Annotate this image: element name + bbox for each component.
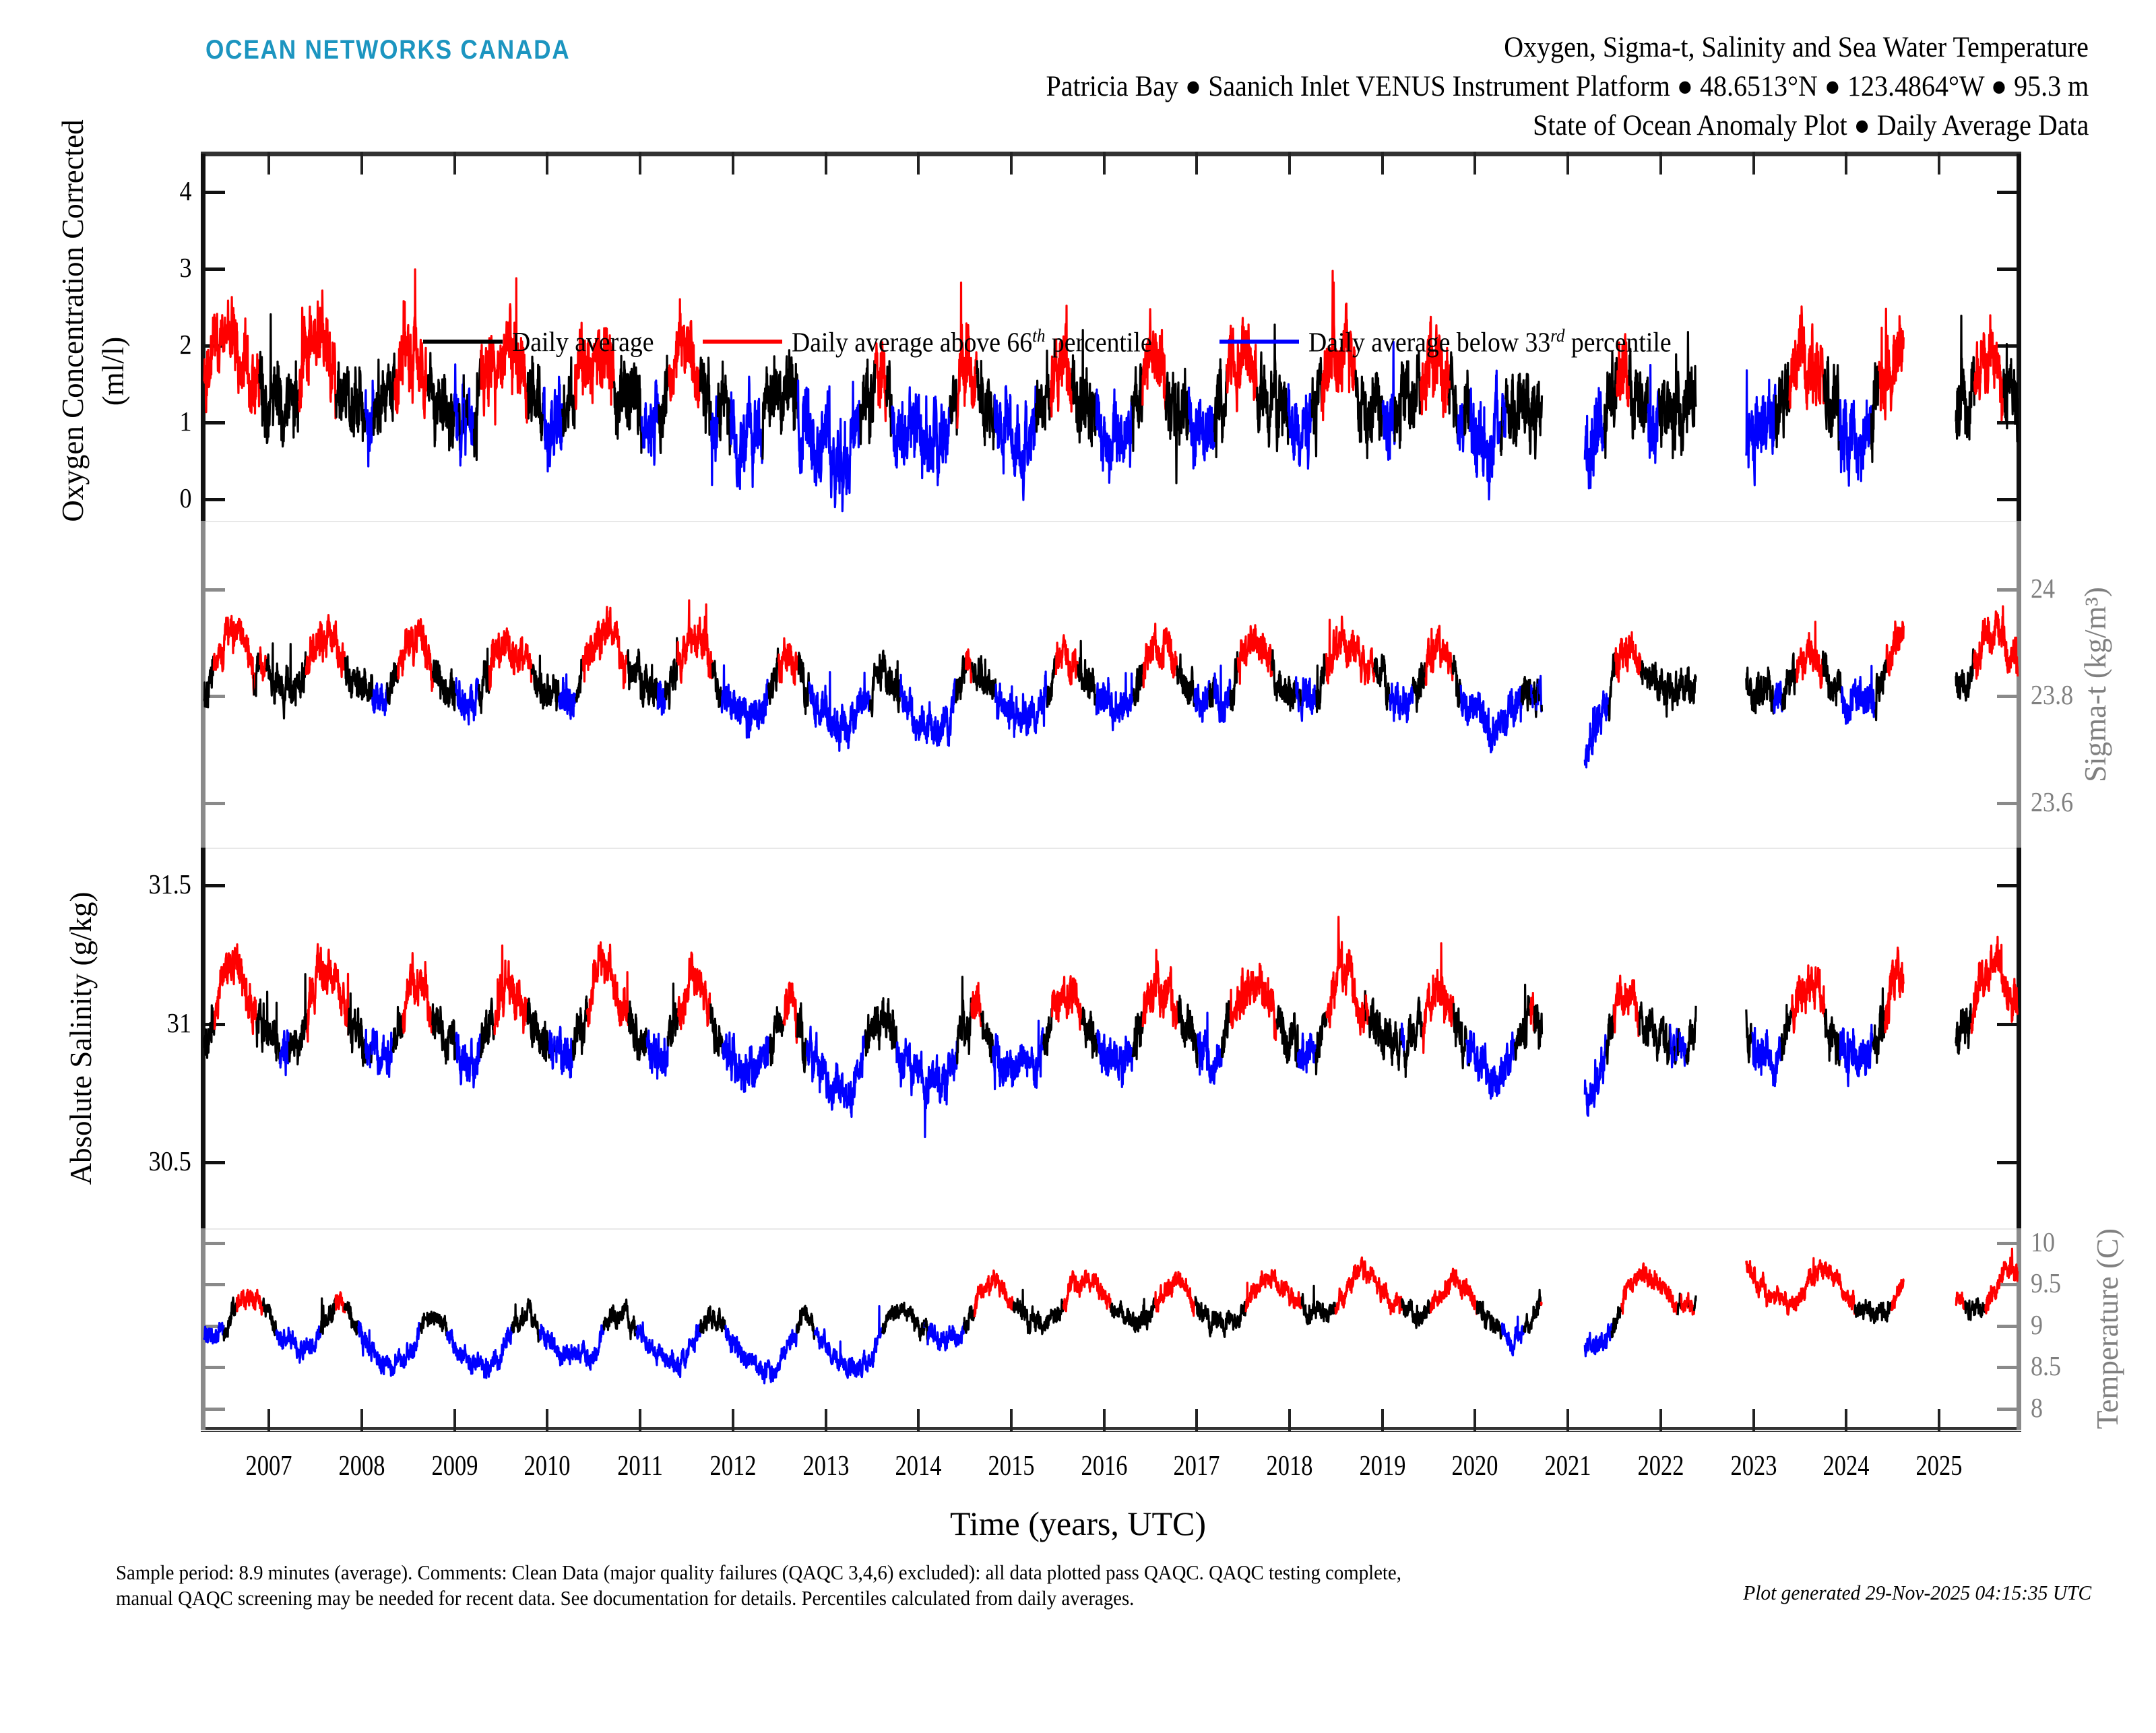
ytick-label-oxygen: 3 — [179, 254, 191, 282]
xtick-label: 2011 — [606, 1450, 674, 1482]
series-oxygen-k — [1036, 350, 1050, 431]
series-sigma_t-b — [1585, 691, 1608, 767]
xtick-label: 2020 — [1441, 1450, 1510, 1482]
series-salinity-k — [1781, 1005, 1792, 1061]
series-salinity-r — [1971, 937, 2018, 1033]
series-oxygen-b — [1189, 387, 1215, 468]
series-salinity-r — [1143, 950, 1178, 1029]
series-temperature-r — [1746, 1258, 1855, 1315]
series-sigma_t-b — [1842, 666, 1876, 724]
series-temperature-r — [1892, 1280, 1904, 1311]
series-salinity-k — [204, 1005, 215, 1058]
series-temperature-k — [1855, 1300, 1892, 1323]
series-sigma_t-k — [1782, 654, 1796, 710]
series-sigma_t-b — [809, 672, 870, 751]
series-salinity-k — [1316, 1011, 1327, 1074]
series-salinity-k — [1369, 999, 1401, 1070]
series-oxygen-k — [1449, 388, 1450, 413]
ytick-label-temperature: 8 — [2031, 1394, 2043, 1422]
series-temperature-b — [276, 1327, 321, 1363]
series-salinity-b — [372, 1029, 393, 1077]
series-oxygen-k — [700, 358, 711, 435]
series-temperature-k — [700, 1306, 725, 1333]
series-oxygen-k — [614, 356, 641, 453]
legend-swatch-below-33rd — [1219, 340, 1299, 344]
series-temperature-k — [1694, 1296, 1697, 1311]
series-sigma_t-k — [266, 643, 306, 718]
series-salinity-k — [1956, 1005, 1971, 1054]
series-salinity-k — [1606, 1004, 1614, 1063]
series-temperature-b — [358, 1322, 420, 1376]
series-sigma_t-k — [345, 656, 372, 701]
xtick-label: 2017 — [1163, 1450, 1232, 1482]
series-salinity-k — [1454, 1003, 1467, 1069]
series-salinity-k — [1178, 996, 1198, 1067]
series-oxygen-r — [299, 290, 336, 418]
series-oxygen-b — [1469, 371, 1500, 499]
series-salinity-r — [1885, 947, 1904, 1032]
xtick-label: 2022 — [1626, 1450, 1695, 1482]
ytick-label-oxygen: 4 — [179, 177, 191, 205]
ytick-label-sigma_t: 23.6 — [2031, 788, 2073, 816]
series-oxygen-k — [336, 363, 365, 441]
series-oxygen-b — [454, 365, 459, 440]
series-oxygen-b — [892, 387, 950, 485]
series-temperature-r — [236, 1290, 263, 1315]
series-oxygen-b — [365, 381, 373, 466]
series-sigma_t-r — [306, 615, 345, 677]
plot-area: Daily averageDaily average above 66th pe… — [201, 152, 2021, 1432]
series-temperature-b — [928, 1323, 964, 1350]
series-sigma_t-k — [1317, 653, 1326, 712]
series-salinity-r — [588, 943, 629, 1026]
series-temperature-k — [964, 1306, 975, 1333]
series-oxygen-b — [1458, 404, 1464, 451]
series-oxygen-k — [1215, 359, 1227, 457]
series-oxygen-k — [1824, 357, 1839, 449]
series-sigma_t-k — [1177, 654, 1195, 705]
series-sigma_t-b — [721, 666, 768, 738]
series-sigma_t-k — [204, 657, 214, 707]
series-sigma_t-k — [532, 656, 559, 710]
series-temperature-k — [1302, 1286, 1335, 1324]
series-salinity-k — [957, 977, 972, 1064]
series-salinity-k — [711, 1003, 723, 1055]
series-temperature-k — [1013, 1290, 1063, 1333]
series-temperature-k — [1111, 1298, 1155, 1332]
series-sigma_t-r — [1326, 617, 1374, 685]
xtick-label: 2025 — [1905, 1450, 1973, 1482]
series-temperature-k — [883, 1302, 925, 1340]
series-sigma_t-r — [1143, 624, 1177, 687]
xtick-label: 2010 — [513, 1450, 582, 1482]
series-sigma_t-r — [1974, 606, 2018, 679]
series-sigma_t-b — [1215, 666, 1230, 722]
series-salinity-r — [403, 953, 433, 1033]
series-sigma_t-k — [433, 660, 456, 710]
series-salinity-r — [1052, 976, 1082, 1030]
series-oxygen-b — [1746, 371, 1776, 485]
series-oxygen-k — [1464, 371, 1470, 435]
series-temperature-r — [1064, 1271, 1111, 1311]
series-oxygen-k — [1776, 363, 1789, 447]
series-sigma_t-k — [1641, 662, 1697, 717]
series-oxygen-k — [1604, 352, 1617, 458]
series-salinity-k — [1746, 1009, 1752, 1062]
xtick-label: 2021 — [1533, 1450, 1602, 1482]
ytick-label-salinity: 31.5 — [149, 871, 191, 898]
series-salinity-k — [1534, 1005, 1542, 1049]
series-oxygen-k — [373, 354, 395, 435]
series-temperature-k — [512, 1299, 540, 1342]
series-temperature-b — [1585, 1324, 1612, 1356]
series-salinity-r — [1423, 943, 1453, 1053]
series-sigma_t-r — [1056, 635, 1078, 685]
series-oxygen-b — [1585, 388, 1604, 489]
series-oxygen-b — [730, 377, 763, 489]
xtick-label: 2009 — [420, 1450, 489, 1482]
series-sigma_t-b — [1097, 673, 1134, 730]
series-salinity-k — [668, 984, 678, 1046]
series-salinity-b — [1198, 1013, 1222, 1083]
series-oxygen-k — [659, 356, 669, 453]
series-temperature-b — [447, 1324, 511, 1378]
series-temperature-k — [1402, 1299, 1431, 1328]
series-oxygen-b — [544, 377, 563, 471]
series-temperature-r — [1335, 1257, 1401, 1314]
series-salinity-k — [797, 1003, 806, 1072]
series-sigma_t-k — [1134, 665, 1143, 705]
series-temperature-b — [726, 1326, 797, 1383]
legend-swatch-daily-average — [423, 340, 503, 344]
ytick-label-temperature: 9 — [2031, 1311, 2043, 1339]
series-salinity-r — [495, 945, 528, 1034]
series-temperature-r — [1541, 1302, 1542, 1305]
series-oxygen-r — [204, 297, 259, 414]
series-temperature-b — [540, 1325, 604, 1369]
ytick-label-oxygen: 1 — [179, 408, 191, 435]
series-oxygen-k — [886, 361, 892, 436]
series-oxygen-k — [2004, 344, 2018, 441]
series-sigma_t-r — [489, 629, 532, 690]
series-oxygen-r — [1975, 315, 2004, 420]
series-salinity-k — [1515, 985, 1530, 1060]
series-salinity-k — [865, 999, 897, 1063]
legend-item-below-33rd: Daily average below 33rd percentile — [1219, 325, 1703, 358]
series-oxygen-b — [1096, 389, 1131, 482]
series-salinity-k — [1639, 1003, 1670, 1064]
series-sigma_t-k — [1272, 650, 1296, 711]
series-sigma_t-b — [456, 679, 479, 724]
series-salinity-b — [456, 1033, 481, 1088]
series-temperature-k — [420, 1312, 447, 1335]
series-salinity-k — [433, 1005, 456, 1064]
series-sigma_t-b — [1774, 682, 1783, 713]
series-oxygen-b — [1383, 342, 1395, 460]
series-salinity-b — [280, 1030, 289, 1075]
series-temperature-k — [797, 1306, 815, 1339]
series-salinity-k — [1277, 1006, 1298, 1067]
series-sigma_t-k — [1453, 656, 1461, 707]
series-salinity-b — [1670, 1024, 1674, 1067]
series-temperature-r — [1246, 1270, 1302, 1312]
series-sigma_t-k — [972, 656, 996, 703]
series-sigma_t-r — [1426, 626, 1453, 685]
series-sigma_t-k — [1078, 641, 1097, 715]
series-salinity-b — [1840, 1025, 1873, 1086]
ytick-label-salinity: 31 — [167, 1009, 191, 1037]
series-oxygen-b — [1288, 384, 1312, 468]
series-oxygen-b — [994, 386, 1036, 500]
series-temperature-r — [1956, 1292, 1965, 1309]
series-oxygen-b — [798, 381, 860, 511]
series-temperature-k — [345, 1302, 358, 1335]
series-salinity-r — [784, 982, 797, 1042]
series-salinity-k — [1082, 1008, 1098, 1058]
footer-line1: Sample period: 8.9 minutes (average). Co… — [116, 1560, 1620, 1585]
xtick-label: 2016 — [1070, 1450, 1139, 1482]
temperature-axis-title: Temperature (C) — [2090, 924, 2125, 1733]
series-salinity-k — [1222, 1001, 1231, 1058]
series-sigma_t-r — [1886, 622, 1903, 676]
legend-item-daily-average: Daily average — [423, 325, 666, 358]
series-salinity-k — [1044, 1009, 1052, 1055]
series-sigma_t-b — [1195, 681, 1209, 722]
series-oxygen-k — [860, 360, 875, 444]
series-oxygen-k — [1506, 374, 1542, 459]
series-sigma_t-r — [260, 648, 266, 681]
series-oxygen-k — [1629, 349, 1648, 439]
series-salinity-k — [1133, 1013, 1143, 1059]
series-sigma_t-k — [769, 649, 779, 704]
series-salinity-r — [1327, 917, 1365, 1035]
plot-title-line1: Oxygen, Sigma-t, Salinity and Sea Water … — [1504, 31, 2089, 64]
series-sigma_t-r — [779, 638, 799, 685]
series-sigma_t-r — [1238, 625, 1272, 684]
series-sigma_t-r — [1616, 632, 1641, 682]
legend-label-above-66th: Daily average above 66th percentile — [792, 325, 1152, 358]
series-salinity-b — [1469, 1032, 1515, 1099]
series-sigma_t-k — [1300, 689, 1301, 706]
series-sigma_t-r — [214, 616, 254, 695]
series-salinity-b — [897, 1039, 957, 1137]
xtick-label: 2008 — [327, 1450, 396, 1482]
series-oxygen-r — [1879, 309, 1904, 419]
series-temperature-k — [1612, 1303, 1622, 1337]
legend-label-daily-average: Daily average — [512, 325, 654, 358]
series-sigma_t-k — [1822, 652, 1841, 705]
series-oxygen-b — [641, 381, 659, 465]
xtick-label: 2013 — [792, 1450, 860, 1482]
series-salinity-r — [1792, 966, 1825, 1033]
series-salinity-k — [393, 1007, 403, 1052]
series-temperature-k — [321, 1298, 336, 1333]
series-sigma_t-b — [373, 683, 387, 716]
series-oxygen-k — [563, 358, 575, 436]
ytick-label-sigma_t: 24 — [2031, 575, 2055, 602]
oxygen-axis-title-line1: Oxygen Concentration Corrected — [55, 0, 90, 725]
series-sigma_t-b — [1301, 679, 1317, 721]
series-oxygen-k — [1500, 407, 1502, 455]
series-salinity-b — [1098, 1030, 1133, 1087]
series-salinity-k — [981, 1011, 992, 1062]
series-salinity-k — [348, 993, 366, 1066]
footer-notes: Sample period: 8.9 minutes (average). Co… — [116, 1560, 1733, 1611]
series-temperature-k — [1195, 1296, 1246, 1337]
series-sigma_t-k — [387, 664, 398, 704]
series-oxygen-k — [474, 350, 481, 460]
series-salinity-k — [1873, 988, 1885, 1063]
series-oxygen-k — [1451, 352, 1458, 442]
series-salinity-r — [1230, 964, 1277, 1040]
series-oxygen-r — [1143, 309, 1166, 409]
series-salinity-r — [972, 983, 981, 1026]
onc-logo: OCEAN NETWORKS CANADA — [205, 35, 570, 65]
series-temperature-k — [604, 1300, 636, 1340]
series-temperature-b — [637, 1323, 700, 1377]
series-oxygen-r — [1050, 306, 1072, 416]
series-temperature-r — [1622, 1263, 1678, 1315]
series-oxygen-k — [528, 356, 543, 440]
ytick-label-salinity: 30.5 — [149, 1147, 191, 1175]
series-salinity-k — [1404, 998, 1423, 1077]
series-salinity-k — [629, 1001, 647, 1060]
series-temperature-r — [1430, 1269, 1477, 1314]
series-temperature-b — [815, 1306, 882, 1378]
series-salinity-r — [678, 953, 711, 1030]
series-oxygen-k — [763, 350, 798, 460]
legend-label-below-33rd: Daily average below 33rd percentile — [1308, 325, 1672, 358]
xtick-label: 2019 — [1348, 1450, 1417, 1482]
series-oxygen-k — [1166, 369, 1188, 483]
series-oxygen-k — [1871, 363, 1878, 462]
plot-title-line3: State of Ocean Anomaly Plot ● Daily Aver… — [1533, 109, 2089, 142]
ytick-label-oxygen: 2 — [179, 331, 191, 358]
ytick-label-temperature: 10 — [2031, 1228, 2055, 1256]
series-salinity-r — [307, 944, 348, 1042]
series-temperature-b — [1502, 1317, 1524, 1355]
series-oxygen-k — [259, 315, 299, 447]
series-temperature-b — [204, 1323, 224, 1344]
ytick-label-sigma_t: 23.8 — [2031, 681, 2073, 709]
plot-title-line2: Patricia Bay ● Saanich Inlet VENUS Instr… — [1046, 70, 2089, 103]
series-salinity-k — [528, 999, 550, 1061]
series-sigma_t-k — [712, 661, 721, 707]
series-salinity-k — [1825, 1009, 1840, 1065]
series-sigma_t-k — [628, 650, 658, 710]
series-oxygen-b — [1840, 400, 1872, 486]
series-salinity-b — [1585, 1035, 1606, 1116]
series-salinity-k — [770, 1007, 784, 1065]
series-sigma_t-b — [658, 682, 665, 715]
series-sigma_t-k — [1374, 655, 1390, 710]
legend-swatch-above-66th — [703, 340, 782, 344]
series-sigma_t-k — [1876, 660, 1886, 720]
plot-generated-timestamp: Plot generated 29-Nov-2025 04:15:35 UTC — [1743, 1581, 2091, 1605]
series-salinity-b — [723, 1032, 770, 1092]
series-temperature-r — [1155, 1272, 1196, 1316]
series-oxygen-k — [718, 362, 730, 455]
legend: Daily averageDaily average above 66th pe… — [423, 325, 1703, 358]
series-sigma_t-r — [1797, 622, 1823, 688]
series-sigma_t-k — [1413, 663, 1425, 712]
xtick-label: 2007 — [235, 1450, 304, 1482]
series-oxygen-k — [1956, 316, 1975, 439]
series-sigma_t-b — [901, 675, 956, 746]
series-oxygen-k — [1356, 371, 1383, 458]
series-sigma_t-k — [1746, 668, 1774, 714]
series-salinity-b — [556, 1027, 573, 1077]
series-salinity-b — [1680, 1033, 1686, 1066]
series-sigma_t-k — [1230, 652, 1238, 710]
series-sigma_t-k — [1956, 650, 1974, 701]
legend-item-above-66th: Daily average above 66th percentile — [703, 325, 1183, 358]
series-oxygen-k — [977, 361, 994, 449]
series-sigma_t-b — [996, 672, 1048, 737]
xtick-label: 2023 — [1719, 1450, 1788, 1482]
series-sigma_t-k — [665, 638, 677, 709]
series-oxygen-k — [1131, 365, 1143, 451]
xtick-label: 2024 — [1812, 1450, 1880, 1482]
xtick-label: 2015 — [977, 1450, 1046, 1482]
series-temperature-k — [263, 1298, 276, 1335]
series-oxygen-k — [428, 353, 454, 450]
series-sigma_t-k — [478, 649, 489, 713]
footer-line2: manual QAQC screening may be needed for … — [116, 1585, 1620, 1611]
series-temperature-k — [1524, 1290, 1541, 1333]
series-salinity-r — [215, 945, 257, 1034]
series-salinity-b — [1752, 1028, 1781, 1086]
series-salinity-r — [1614, 976, 1639, 1036]
series-sigma_t-r — [583, 607, 628, 689]
series-sigma_t-b — [1390, 683, 1413, 722]
x-axis-title: Time (years, UTC) — [0, 1504, 2156, 1543]
series-temperature-k — [1965, 1298, 1986, 1320]
ytick-label-temperature: 8.5 — [2031, 1352, 2061, 1380]
series-sigma_t-k — [1521, 677, 1531, 711]
plot-page: OCEAN NETWORKS CANADA Oxygen, Sigma-t, S… — [0, 0, 2156, 1617]
series-oxygen-r — [1789, 307, 1824, 409]
series-temperature-r — [1681, 1293, 1689, 1312]
series-salinity-b — [993, 1021, 1044, 1089]
series-sigma_t-k — [576, 655, 583, 701]
series-salinity-k — [481, 999, 495, 1058]
series-temperature-k — [224, 1298, 236, 1341]
xtick-label: 2018 — [1255, 1450, 1324, 1482]
series-salinity-b — [1298, 1034, 1316, 1073]
series-salinity-k — [289, 974, 307, 1065]
series-temperature-r — [336, 1292, 344, 1312]
series-sigma_t-k — [956, 656, 966, 703]
series-salinity-b — [806, 1027, 865, 1117]
series-sigma_t-k — [1048, 656, 1056, 707]
series-salinity-b — [550, 1031, 555, 1069]
series-sigma_t-b — [1461, 685, 1521, 753]
salinity-axis-title: Absolute Salinity (g/kg) — [63, 634, 98, 1443]
series-oxygen-b — [1504, 400, 1505, 437]
ytick-label-temperature: 9.5 — [2031, 1269, 2061, 1297]
series-oxygen-b — [711, 396, 718, 484]
xtick-label: 2012 — [699, 1450, 767, 1482]
series-oxygen-k — [950, 376, 957, 435]
series-temperature-r — [975, 1271, 1014, 1317]
series-sigma_t-r — [398, 619, 433, 691]
xtick-label: 2014 — [884, 1450, 953, 1482]
series-sigma_t-k — [1609, 654, 1616, 720]
series-salinity-k — [257, 992, 280, 1064]
series-salinity-k — [573, 997, 587, 1060]
series-sigma_t-k — [870, 651, 900, 716]
